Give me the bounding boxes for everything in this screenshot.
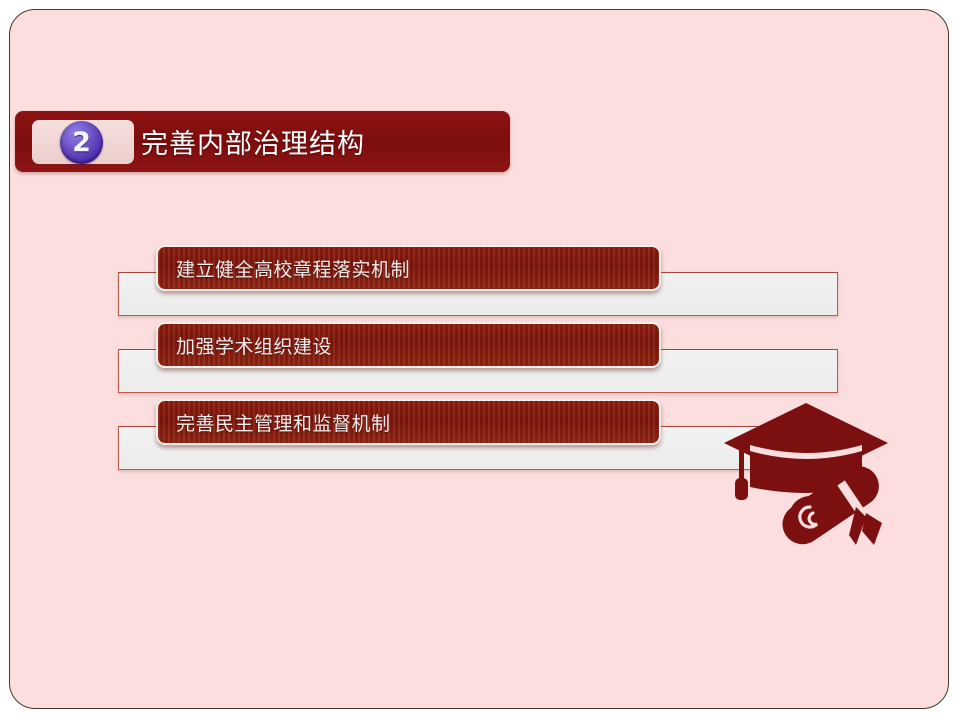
row-bar-label: 加强学术组织建设 xyxy=(176,332,332,359)
slide-canvas: 2 完善内部治理结构 建立健全高校章程落实机制 加强学术组织建设 完善民主管理和… xyxy=(9,9,949,709)
row-bar-label: 建立健全高校章程落实机制 xyxy=(176,255,410,282)
badge-panel: 2 xyxy=(32,120,134,164)
row-bar[interactable]: 建立健全高校章程落实机制 xyxy=(156,245,661,291)
row-bar[interactable]: 完善民主管理和监督机制 xyxy=(156,399,661,445)
page-title: 完善内部治理结构 xyxy=(141,111,365,172)
graduation-illustration xyxy=(716,395,916,550)
section-title-bar: 2 完善内部治理结构 xyxy=(15,111,510,172)
section-number-label: 2 xyxy=(72,129,91,156)
section-number-badge: 2 xyxy=(60,121,103,164)
row-bar[interactable]: 加强学术组织建设 xyxy=(156,322,661,368)
row-bar-label: 完善民主管理和监督机制 xyxy=(176,409,391,436)
